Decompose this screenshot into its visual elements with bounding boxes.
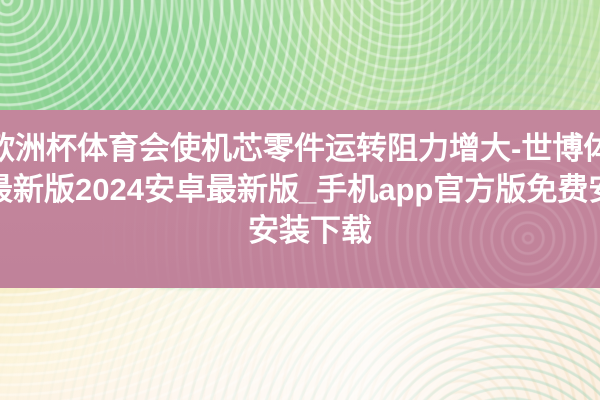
headline-line-1: 欧洲杯体育会使机芯零件运转阻力增大-世博体育APP xyxy=(0,128,600,169)
promo-banner-image: 欧洲杯体育会使机芯零件运转阻力增大-世博体育APP 最新版2024安卓最新版_手… xyxy=(0,0,600,400)
headline-line-3: 安装下载 xyxy=(248,210,600,251)
banner-headline: 欧洲杯体育会使机芯零件运转阻力增大-世博体育APP 最新版2024安卓最新版_手… xyxy=(0,128,600,251)
headline-line-2: 最新版2024安卓最新版_手机app官方版免费安装下载 xyxy=(0,169,600,210)
